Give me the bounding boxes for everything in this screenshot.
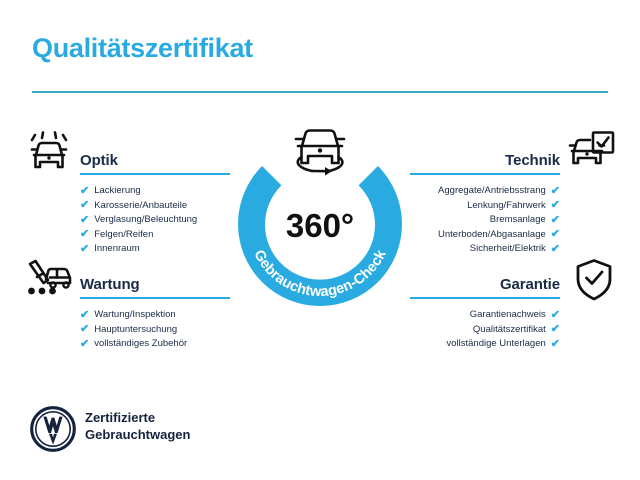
list-item-label: Qualitätszertifikat (473, 323, 546, 338)
section-header: Garantie (410, 267, 560, 293)
section-divider (80, 297, 230, 299)
check-icon: ✔ (80, 200, 89, 211)
list-item-label: Lenkung/Fahrwerk (467, 199, 546, 214)
list-item: Lenkung/Fahrwerk✔ (410, 199, 560, 214)
car-shine-icon (26, 131, 72, 178)
list-item-label: Wartung/Inspektion (94, 308, 176, 323)
list-item: Sicherheit/Elektrik✔ (410, 242, 560, 257)
check-icon: ✔ (551, 229, 560, 240)
list-item: ✔Verglasung/Beleuchtung (80, 213, 230, 228)
car-service-tools-icon (24, 258, 74, 307)
check-icon: ✔ (80, 324, 89, 335)
title-divider (32, 91, 608, 93)
list-item: ✔Karosserie/Anbauteile (80, 199, 230, 214)
section-technik: Technik Aggregate/Antriebsstrang✔ Lenkun… (410, 143, 560, 273)
check-icon: ✔ (80, 215, 89, 226)
check-icon: ✔ (80, 310, 89, 321)
section-title-wartung: Wartung (80, 276, 140, 293)
list-item-label: vollständiges Zubehör (94, 337, 187, 352)
list-item: Unterboden/Abgasanlage✔ (410, 228, 560, 243)
list-item-label: Felgen/Reifen (94, 228, 153, 243)
list-item-label: Verglasung/Beleuchtung (94, 213, 197, 228)
list-item-label: Unterboden/Abgasanlage (438, 228, 546, 243)
section-header: Optik (80, 143, 230, 169)
section-title-technik: Technik (505, 152, 560, 169)
section-header: Wartung (80, 267, 230, 293)
shield-check-icon (574, 258, 614, 307)
section-title-optik: Optik (80, 152, 118, 169)
list-item: ✔vollständiges Zubehör (80, 337, 230, 352)
checklist-wartung: ✔Wartung/Inspektion ✔Hauptuntersuchung ✔… (80, 308, 230, 352)
section-header: Technik (410, 143, 560, 169)
list-item-label: Innenraum (94, 242, 139, 257)
section-optik: Optik ✔Lackierung ✔Karosserie/Anbauteile… (80, 143, 230, 273)
check-icon: ✔ (551, 324, 560, 335)
list-item: ✔Innenraum (80, 242, 230, 257)
footer-brand-text: Zertifizierte Gebrauchtwagen (85, 409, 190, 443)
list-item: ✔Felgen/Reifen (80, 228, 230, 243)
certificate-page: Qualitätszertifikat (0, 0, 640, 480)
check-icon: ✔ (551, 244, 560, 255)
check-icon: ✔ (551, 339, 560, 350)
footer-line-1: Zertifizierte (85, 409, 190, 426)
section-divider (410, 297, 560, 299)
list-item-label: Lackierung (94, 184, 140, 199)
car-checkbox-icon (568, 131, 616, 178)
list-item-label: Karosserie/Anbauteile (94, 199, 187, 214)
section-wartung: Wartung ✔Wartung/Inspektion ✔Hauptunters… (80, 267, 230, 368)
list-item-label: Hauptuntersuchung (94, 323, 177, 338)
checklist-garantie: Garantienachweis✔ Qualitätszertifikat✔ v… (410, 308, 560, 352)
list-item-label: vollständige Unterlagen (446, 337, 545, 352)
list-item: Garantienachweis✔ (410, 308, 560, 323)
footer-line-2: Gebrauchtwagen (85, 426, 190, 443)
check-icon: ✔ (551, 310, 560, 321)
section-divider (410, 173, 560, 175)
list-item-label: Sicherheit/Elektrik (470, 242, 546, 257)
list-item-label: Aggregate/Antriebsstrang (438, 184, 546, 199)
list-item: Bremsanlage✔ (410, 213, 560, 228)
check-icon: ✔ (80, 339, 89, 350)
check-icon: ✔ (551, 200, 560, 211)
list-item: ✔Hauptuntersuchung (80, 323, 230, 338)
check-icon: ✔ (80, 229, 89, 240)
list-item: vollständige Unterlagen✔ (410, 337, 560, 352)
list-item: ✔Wartung/Inspektion (80, 308, 230, 323)
list-item-label: Bremsanlage (490, 213, 546, 228)
section-divider (80, 173, 230, 175)
check-icon: ✔ (551, 215, 560, 226)
check-icon: ✔ (551, 186, 560, 197)
checklist-optik: ✔Lackierung ✔Karosserie/Anbauteile ✔Verg… (80, 184, 230, 257)
badge-center-label: 360° (286, 207, 354, 244)
badge-360-gebrauchtwagen-check: 360° Gebrauchtwagen-Check (228, 112, 412, 312)
check-icon: ✔ (80, 186, 89, 197)
page-title: Qualitätszertifikat (32, 33, 253, 64)
vw-logo (30, 406, 76, 452)
section-garantie: Garantie Garantienachweis✔ Qualitätszert… (410, 267, 560, 368)
list-item: Qualitätszertifikat✔ (410, 323, 560, 338)
list-item: Aggregate/Antriebsstrang✔ (410, 184, 560, 199)
section-title-garantie: Garantie (500, 276, 560, 293)
car-front-rotate-icon (296, 131, 344, 176)
list-item-label: Garantienachweis (470, 308, 546, 323)
list-item: ✔Lackierung (80, 184, 230, 199)
checklist-technik: Aggregate/Antriebsstrang✔ Lenkung/Fahrwe… (410, 184, 560, 257)
check-icon: ✔ (80, 244, 89, 255)
